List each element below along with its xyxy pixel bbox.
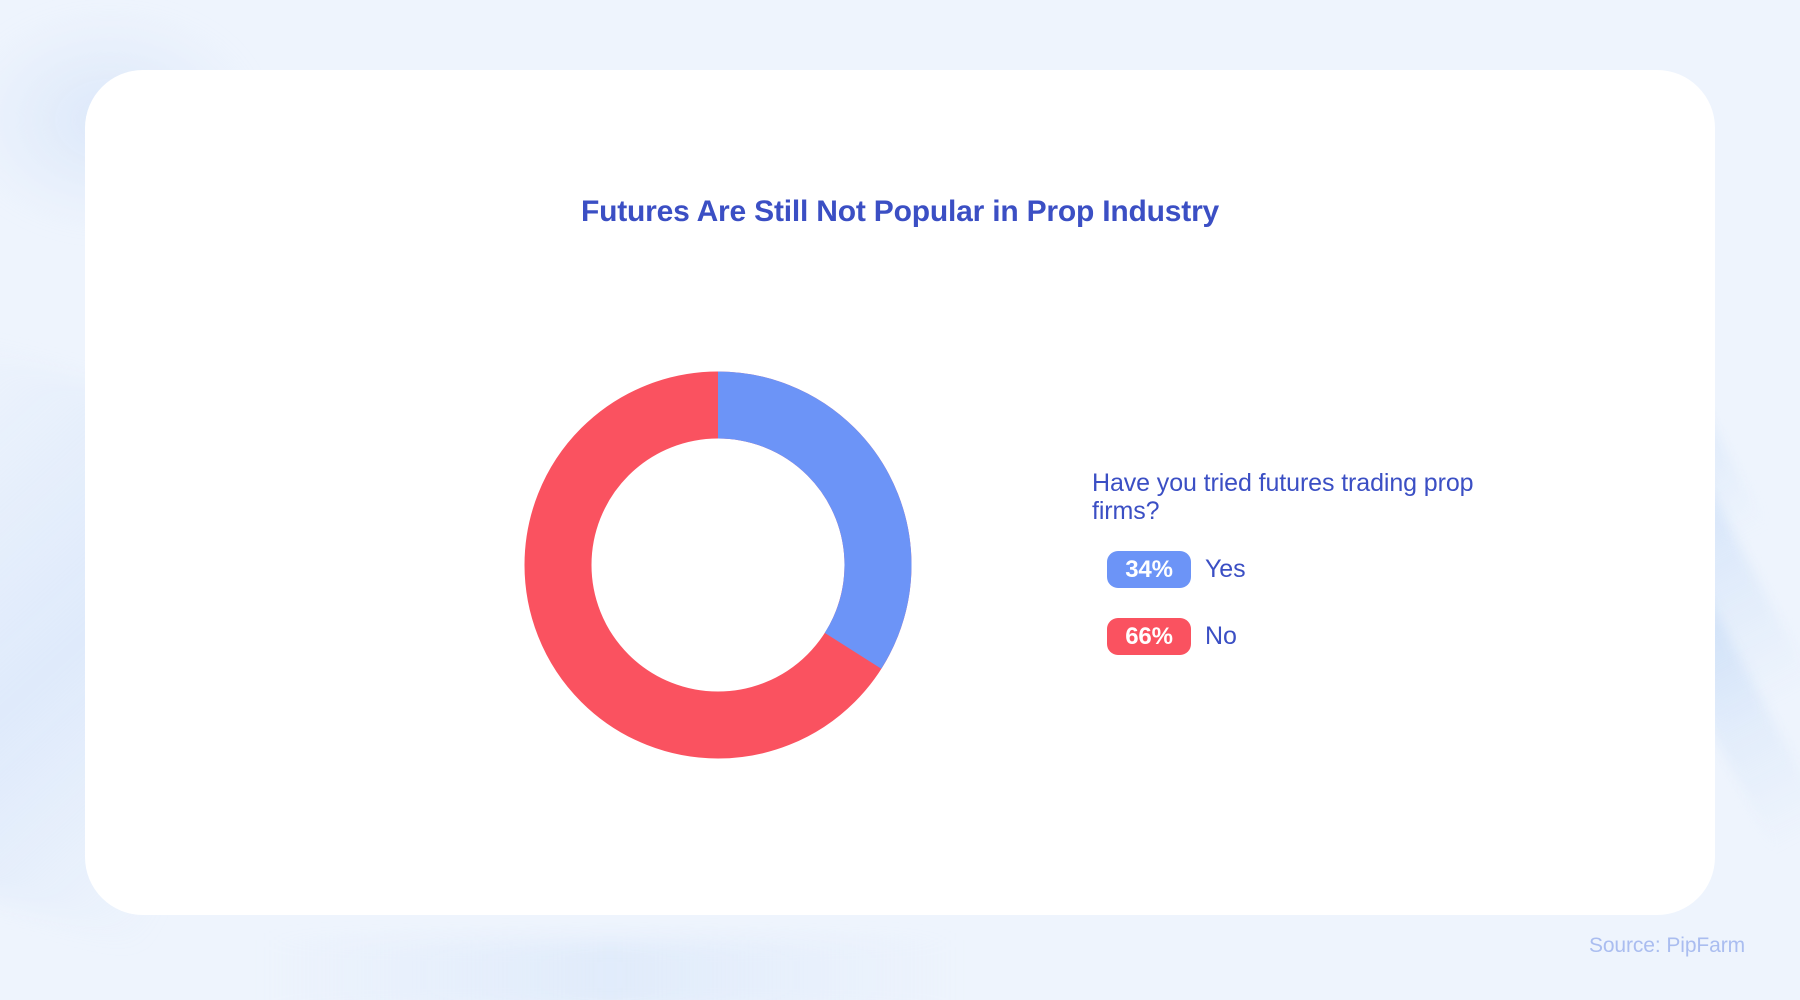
legend-item-yes[interactable]: 34% Yes bbox=[1107, 551, 1522, 588]
legend-item-no[interactable]: 66% No bbox=[1107, 618, 1522, 655]
chart-title: Futures Are Still Not Popular in Prop In… bbox=[85, 195, 1715, 229]
legend-badge-yes: 34% bbox=[1107, 551, 1191, 588]
decor-streak-bottom bbox=[260, 940, 960, 1000]
legend-badge-no: 66% bbox=[1107, 618, 1191, 655]
legend-question: Have you tried futures trading prop firm… bbox=[1092, 469, 1512, 525]
donut-chart-svg bbox=[505, 352, 931, 778]
chart-legend: Have you tried futures trading prop firm… bbox=[1092, 469, 1522, 655]
chart-card: Futures Are Still Not Popular in Prop In… bbox=[85, 70, 1715, 915]
donut-chart bbox=[505, 352, 931, 778]
legend-label-yes: Yes bbox=[1205, 555, 1245, 584]
legend-label-no: No bbox=[1205, 622, 1237, 651]
source-attribution: Source: PipFarm bbox=[1589, 934, 1745, 958]
